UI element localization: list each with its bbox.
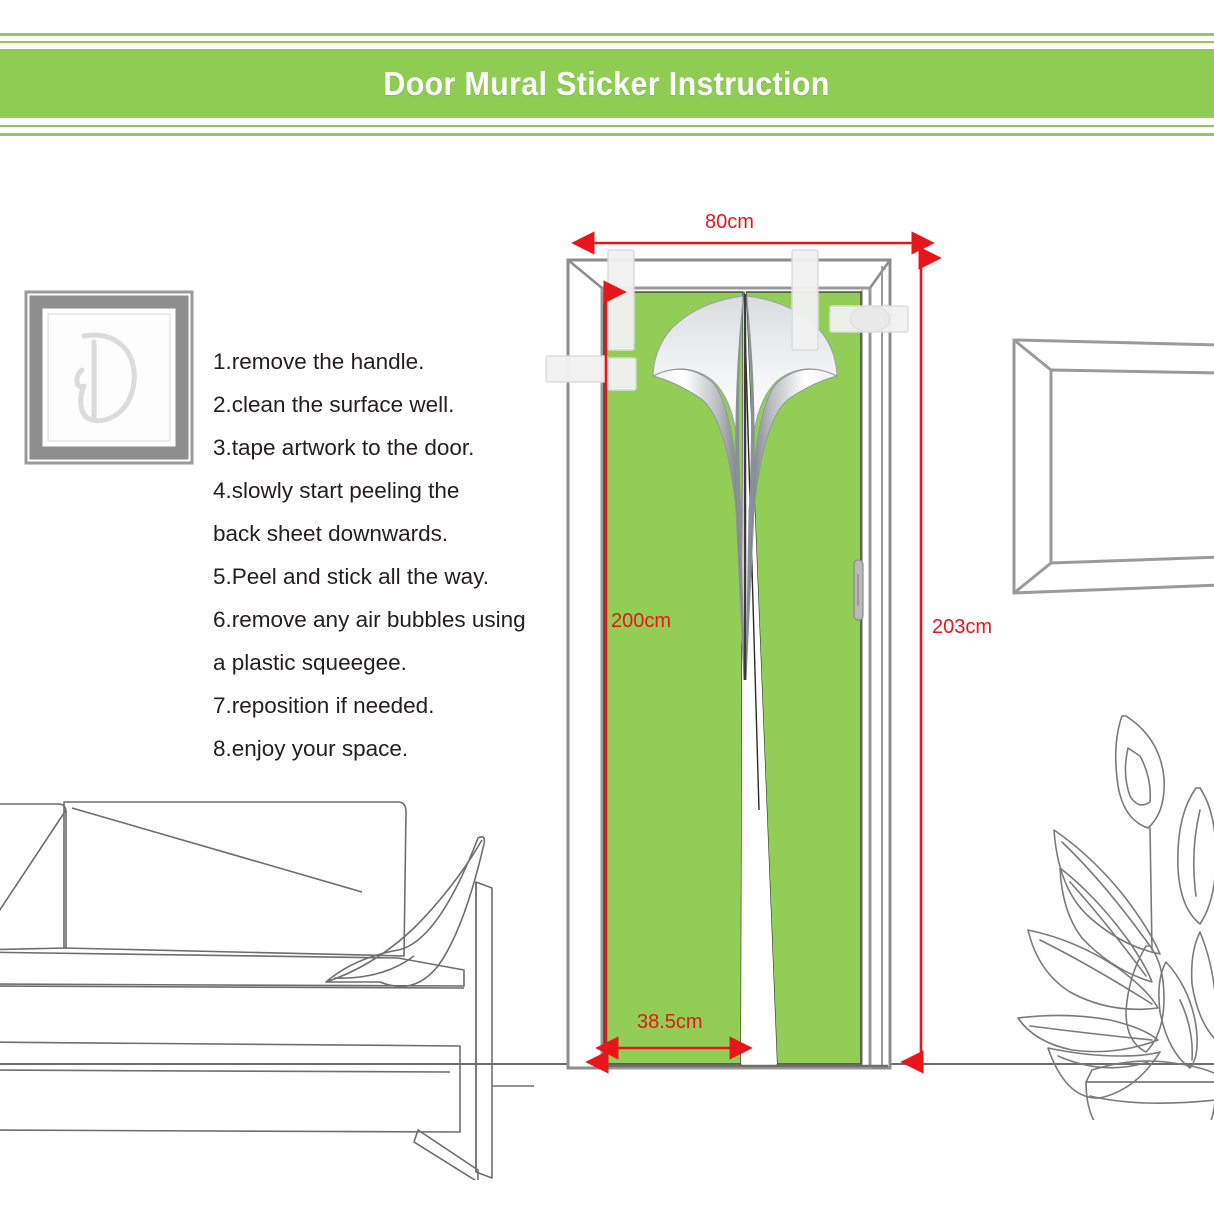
potted-plant [1000,700,1214,1120]
dimension-label-panel-width: 38.5cm [637,1011,703,1034]
header-banner: Door Mural Sticker Instruction [0,49,1214,118]
tape-top-right [792,250,818,350]
wall-picture-frame [24,290,194,465]
tape-top-left [608,250,634,350]
dimension-label-door-height: 203cm [932,616,992,639]
tape-left-inner [608,358,636,390]
right-wall-frame [1010,335,1214,600]
instruction-line-2: 2.clean the surface well. [213,383,543,426]
instruction-list: 1.remove the handle. 2.clean the surface… [213,340,543,770]
instruction-poster: Door Mural Sticker Instruction 1.remove … [0,0,1214,1214]
page-title: Door Mural Sticker Instruction [384,65,830,103]
tape-left-edge [546,356,608,382]
dimension-label-width: 80cm [705,211,754,234]
banner-hairline-top [0,33,1214,36]
door-handle[interactable] [854,560,863,620]
sofa [0,770,534,1180]
door-assembly [540,210,960,1090]
instruction-line-3: 3.tape artwork to the door. [213,426,543,469]
instruction-line-4: 4.slowly start peeling the [213,469,543,512]
instruction-line-6: 6.remove any air bubbles using [213,598,543,641]
instruction-line-8: 8.enjoy your space. [213,727,543,770]
instruction-line-4b: back sheet downwards. [213,512,543,555]
instruction-line-7: 7.reposition if needed. [213,684,543,727]
instruction-line-6b: a plastic squeegee. [213,641,543,684]
banner-hairline-bottom [0,125,1214,127]
banner-hairline-bottom-2 [0,133,1214,136]
instruction-line-1: 1.remove the handle. [213,340,543,383]
dimension-label-sticker-height: 200cm [611,610,671,633]
instruction-line-5: 5.Peel and stick all the way. [213,555,543,598]
banner-hairline-top-2 [0,41,1214,43]
